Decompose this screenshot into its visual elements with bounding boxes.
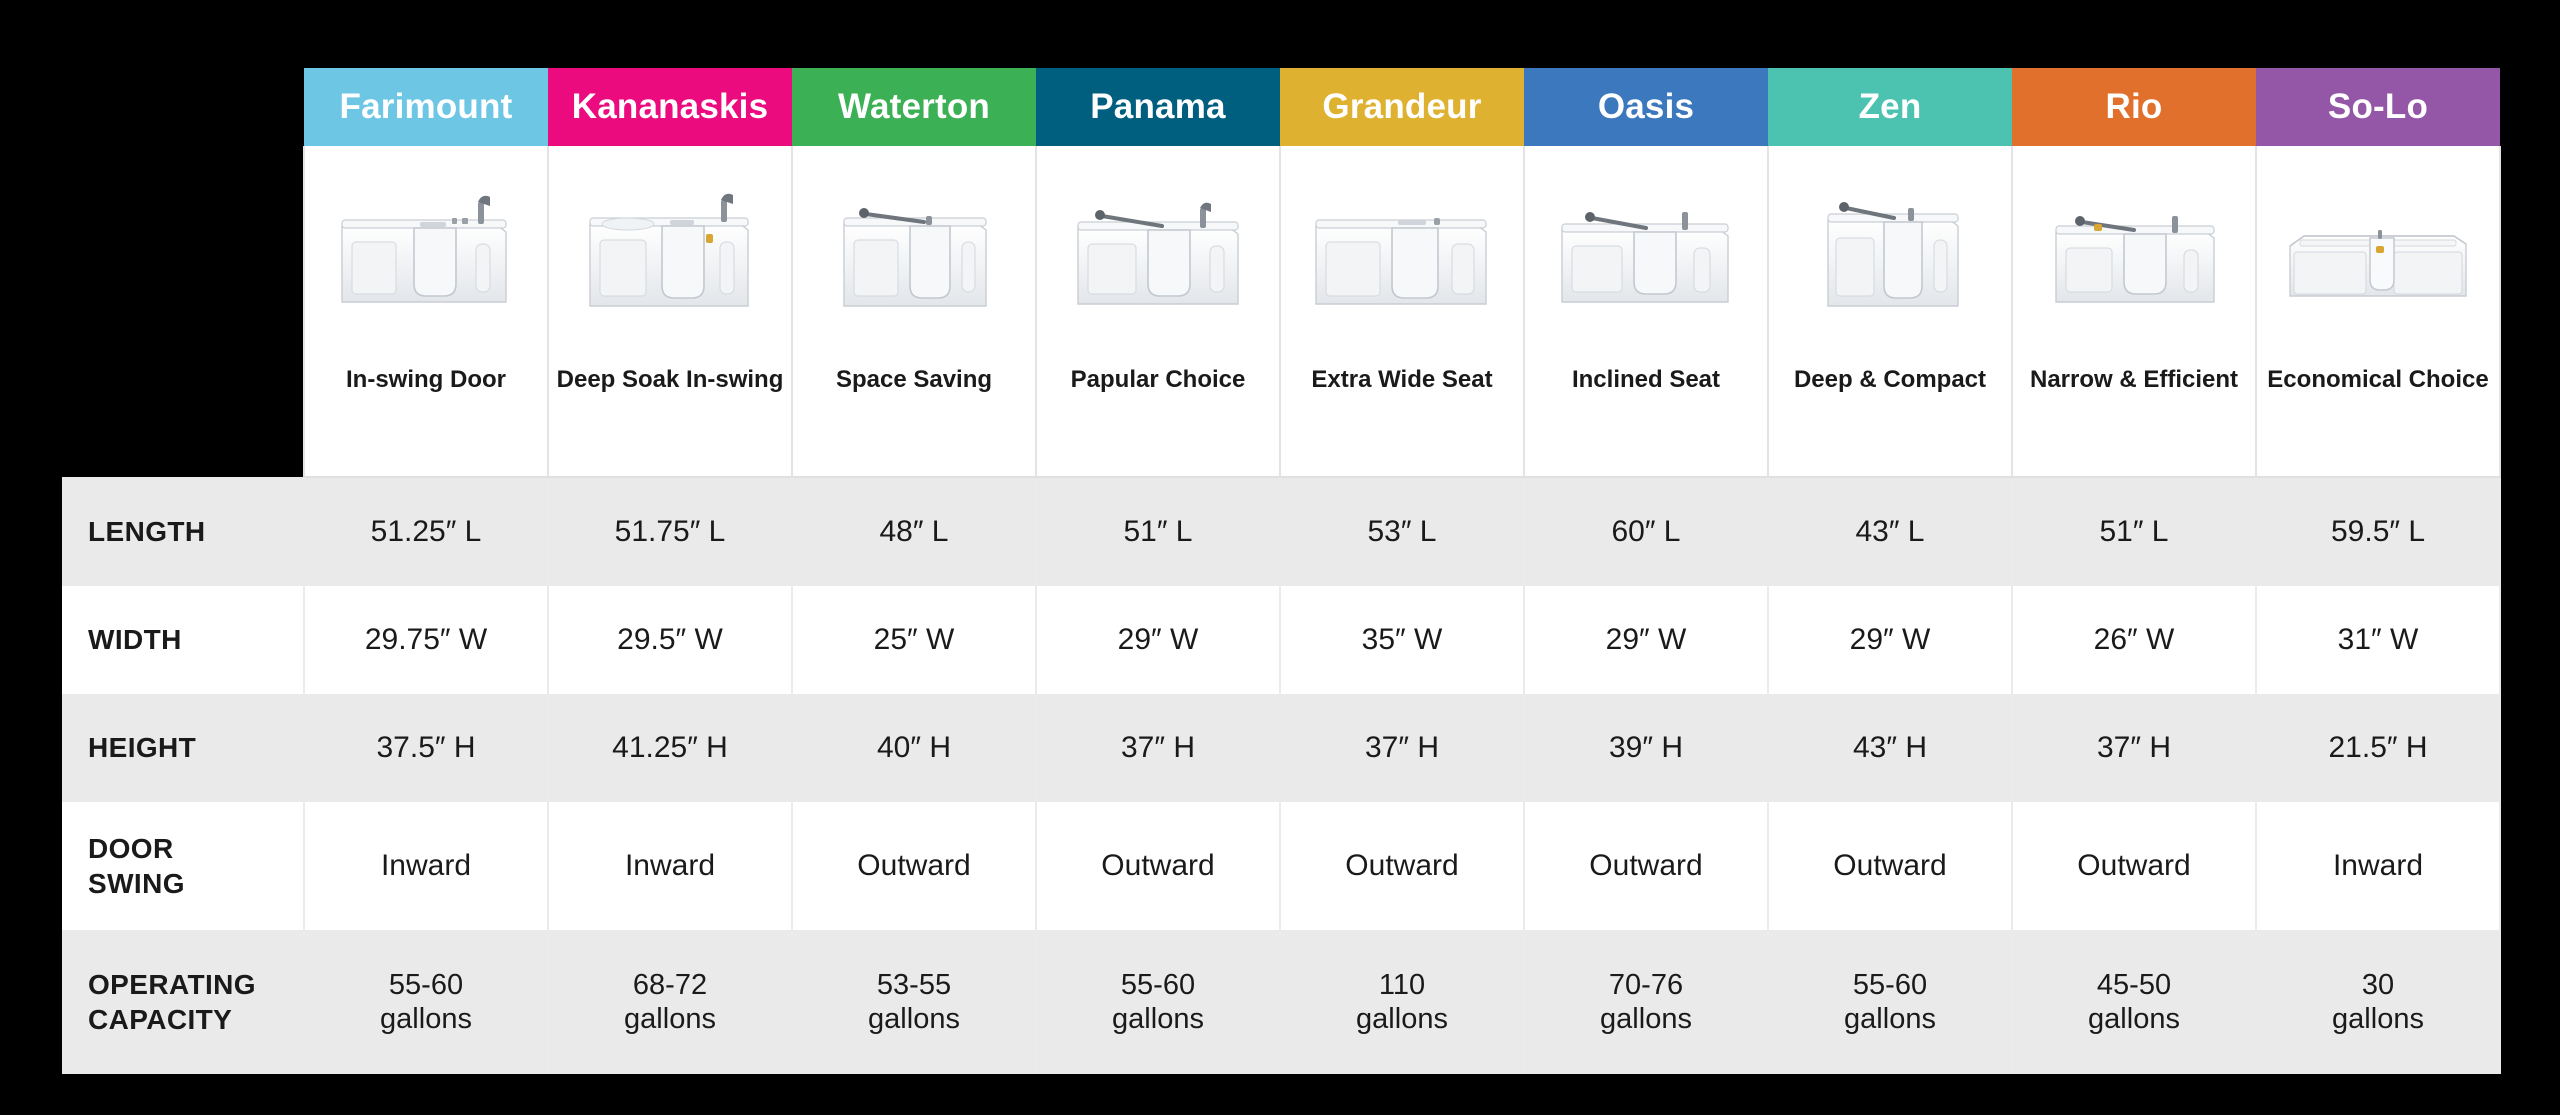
cell-width-oasis: 29″ W xyxy=(1524,586,1768,694)
tub-image-waterton xyxy=(799,160,1029,350)
cell-height-so-lo: 21.5″ H xyxy=(2256,694,2500,802)
cell-length-rio: 51″ L xyxy=(2012,477,2256,586)
row-label-length: LENGTH xyxy=(62,477,304,586)
column-header-rio[interactable]: Rio xyxy=(2012,68,2256,146)
capacity-value: 110 xyxy=(1285,968,1519,1002)
product-cell-farimount[interactable]: In-swing Door xyxy=(304,146,548,477)
product-caption-oasis: Inclined Seat xyxy=(1531,366,1761,394)
capacity-unit: gallons xyxy=(309,1002,543,1036)
cell-capacity-kananaskis: 68-72 gallons xyxy=(548,930,792,1074)
tub-image-grandeur xyxy=(1287,160,1517,350)
capacity-unit: gallons xyxy=(1529,1002,1763,1036)
product-caption-farimount: In-swing Door xyxy=(311,366,541,394)
table-row-operating-capacity: OPERATING CAPACITY 55-60 gallons 68-72 g… xyxy=(62,930,2500,1074)
product-image-row: In-swing Door xyxy=(62,146,2500,477)
tub-image-kananaskis xyxy=(555,160,785,350)
product-cell-waterton[interactable]: Space Saving xyxy=(792,146,1036,477)
table-row-height: HEIGHT 37.5″ H 41.25″ H 40″ H 37″ H 37″ … xyxy=(62,694,2500,802)
cell-width-grandeur: 35″ W xyxy=(1280,586,1524,694)
capacity-value: 55-60 xyxy=(1041,968,1275,1002)
product-caption-rio: Narrow & Efficient xyxy=(2019,366,2249,394)
brand-header-row: Farimount Kananaskis Waterton Panama Gra… xyxy=(62,68,2500,146)
capacity-unit: gallons xyxy=(1773,1002,2007,1036)
cell-length-zen: 43″ L xyxy=(1768,477,2012,586)
capacity-value: 53-55 xyxy=(797,968,1031,1002)
cell-width-zen: 29″ W xyxy=(1768,586,2012,694)
cell-length-panama: 51″ L xyxy=(1036,477,1280,586)
cell-door-swing-waterton: Outward xyxy=(792,802,1036,930)
product-cell-rio[interactable]: Narrow & Efficient xyxy=(2012,146,2256,477)
cell-height-oasis: 39″ H xyxy=(1524,694,1768,802)
column-header-panama[interactable]: Panama xyxy=(1036,68,1280,146)
cell-width-panama: 29″ W xyxy=(1036,586,1280,694)
table-row-width: WIDTH 29.75″ W 29.5″ W 25″ W 29″ W 35″ W… xyxy=(62,586,2500,694)
column-header-farimount[interactable]: Farimount xyxy=(304,68,548,146)
product-comparison-table: Farimount Kananaskis Waterton Panama Gra… xyxy=(62,68,2498,1048)
column-header-so-lo[interactable]: So-Lo xyxy=(2256,68,2500,146)
row-label-operating-capacity: OPERATING CAPACITY xyxy=(62,930,304,1074)
capacity-value: 68-72 xyxy=(553,968,787,1002)
cell-height-waterton: 40″ H xyxy=(792,694,1036,802)
cell-height-grandeur: 37″ H xyxy=(1280,694,1524,802)
tub-image-oasis xyxy=(1531,160,1761,350)
cell-height-farimount: 37.5″ H xyxy=(304,694,548,802)
product-caption-so-lo: Economical Choice xyxy=(2263,366,2493,394)
cell-width-kananaskis: 29.5″ W xyxy=(548,586,792,694)
column-header-zen[interactable]: Zen xyxy=(1768,68,2012,146)
capacity-value: 55-60 xyxy=(309,968,543,1002)
product-caption-kananaskis: Deep Soak In-swing xyxy=(555,366,785,394)
cell-width-rio: 26″ W xyxy=(2012,586,2256,694)
cell-capacity-panama: 55-60 gallons xyxy=(1036,930,1280,1074)
cell-door-swing-zen: Outward xyxy=(1768,802,2012,930)
capacity-value: 45-50 xyxy=(2017,968,2251,1002)
capacity-value: 30 xyxy=(2261,968,2495,1002)
product-cell-zen[interactable]: Deep & Compact xyxy=(1768,146,2012,477)
tub-image-farimount xyxy=(311,160,541,350)
cell-height-zen: 43″ H xyxy=(1768,694,2012,802)
product-corner-cell xyxy=(62,146,304,477)
column-header-grandeur[interactable]: Grandeur xyxy=(1280,68,1524,146)
cell-capacity-zen: 55-60 gallons xyxy=(1768,930,2012,1074)
header-corner-cell xyxy=(62,68,304,146)
cell-height-kananaskis: 41.25″ H xyxy=(548,694,792,802)
column-header-waterton[interactable]: Waterton xyxy=(792,68,1036,146)
cell-height-rio: 37″ H xyxy=(2012,694,2256,802)
cell-door-swing-rio: Outward xyxy=(2012,802,2256,930)
capacity-value: 70-76 xyxy=(1529,968,1763,1002)
row-label-door-swing: DOOR SWING xyxy=(62,802,304,930)
cell-door-swing-farimount: Inward xyxy=(304,802,548,930)
cell-capacity-rio: 45-50 gallons xyxy=(2012,930,2256,1074)
row-label-height: HEIGHT xyxy=(62,694,304,802)
tub-image-panama xyxy=(1043,160,1273,350)
product-cell-panama[interactable]: Papular Choice xyxy=(1036,146,1280,477)
column-header-oasis[interactable]: Oasis xyxy=(1524,68,1768,146)
row-label-width: WIDTH xyxy=(62,586,304,694)
capacity-value: 55-60 xyxy=(1773,968,2007,1002)
product-caption-panama: Papular Choice xyxy=(1043,366,1273,394)
cell-door-swing-grandeur: Outward xyxy=(1280,802,1524,930)
cell-door-swing-so-lo: Inward xyxy=(2256,802,2500,930)
cell-length-farimount: 51.25″ L xyxy=(304,477,548,586)
capacity-unit: gallons xyxy=(1285,1002,1519,1036)
capacity-unit: gallons xyxy=(2261,1002,2495,1036)
cell-capacity-grandeur: 110 gallons xyxy=(1280,930,1524,1074)
cell-capacity-so-lo: 30 gallons xyxy=(2256,930,2500,1074)
capacity-unit: gallons xyxy=(2017,1002,2251,1036)
capacity-unit: gallons xyxy=(1041,1002,1275,1036)
cell-capacity-farimount: 55-60 gallons xyxy=(304,930,548,1074)
cell-height-panama: 37″ H xyxy=(1036,694,1280,802)
capacity-unit: gallons xyxy=(797,1002,1031,1036)
product-caption-grandeur: Extra Wide Seat xyxy=(1287,366,1517,394)
tub-image-zen xyxy=(1775,160,2005,350)
cell-capacity-oasis: 70-76 gallons xyxy=(1524,930,1768,1074)
table-row-door-swing: DOOR SWING Inward Inward Outward Outward… xyxy=(62,802,2500,930)
tub-image-rio xyxy=(2019,160,2249,350)
cell-length-so-lo: 59.5″ L xyxy=(2256,477,2500,586)
cell-capacity-waterton: 53-55 gallons xyxy=(792,930,1036,1074)
cell-length-oasis: 60″ L xyxy=(1524,477,1768,586)
comparison-table: Farimount Kananaskis Waterton Panama Gra… xyxy=(62,68,2501,1074)
column-header-kananaskis[interactable]: Kananaskis xyxy=(548,68,792,146)
product-cell-oasis[interactable]: Inclined Seat xyxy=(1524,146,1768,477)
cell-length-grandeur: 53″ L xyxy=(1280,477,1524,586)
product-cell-grandeur[interactable]: Extra Wide Seat xyxy=(1280,146,1524,477)
cell-width-waterton: 25″ W xyxy=(792,586,1036,694)
cell-door-swing-oasis: Outward xyxy=(1524,802,1768,930)
cell-width-so-lo: 31″ W xyxy=(2256,586,2500,694)
cell-length-waterton: 48″ L xyxy=(792,477,1036,586)
product-cell-so-lo[interactable]: Economical Choice xyxy=(2256,146,2500,477)
capacity-unit: gallons xyxy=(553,1002,787,1036)
product-caption-zen: Deep & Compact xyxy=(1775,366,2005,394)
cell-length-kananaskis: 51.75″ L xyxy=(548,477,792,586)
cell-door-swing-kananaskis: Inward xyxy=(548,802,792,930)
tub-image-so-lo xyxy=(2263,160,2493,350)
product-caption-waterton: Space Saving xyxy=(799,366,1029,394)
table-row-length: LENGTH 51.25″ L 51.75″ L 48″ L 51″ L 53″… xyxy=(62,477,2500,586)
cell-width-farimount: 29.75″ W xyxy=(304,586,548,694)
product-cell-kananaskis[interactable]: Deep Soak In-swing xyxy=(548,146,792,477)
cell-door-swing-panama: Outward xyxy=(1036,802,1280,930)
